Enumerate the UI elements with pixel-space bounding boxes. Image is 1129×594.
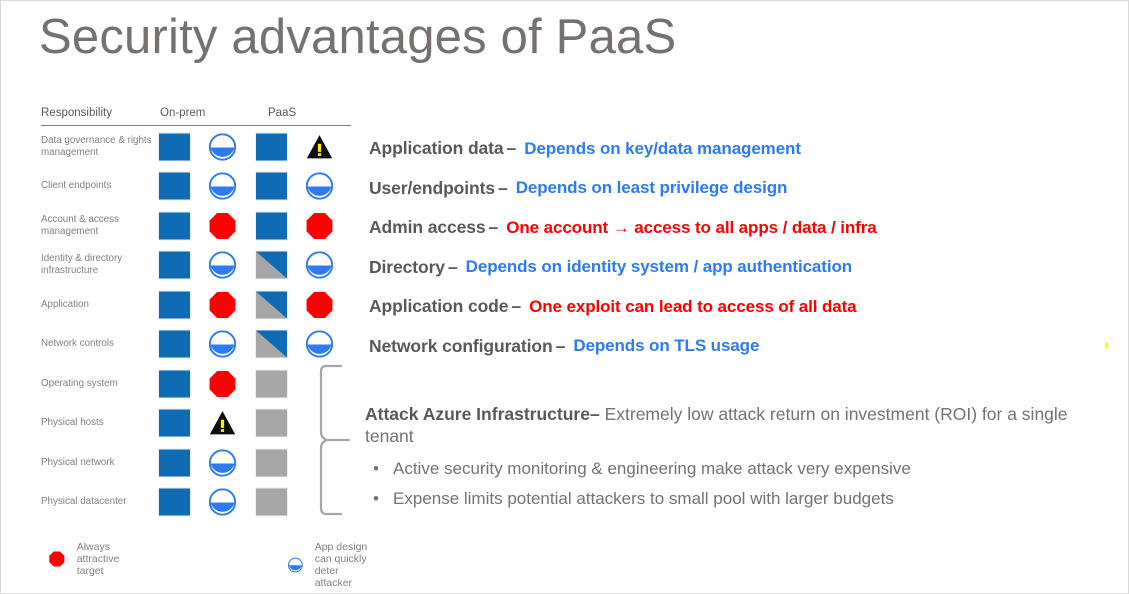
paas-fill-cell — [256, 212, 287, 239]
row-label: Data governance & rights management — [41, 135, 156, 159]
deter-circle-icon — [209, 173, 236, 200]
callout-description: Depends on TLS usage — [573, 336, 759, 356]
row-label: Account & access management — [41, 214, 156, 238]
diagonal-square-cell — [256, 331, 287, 358]
warning-triangle-icon — [306, 133, 333, 160]
onprem-risk-marker — [209, 449, 236, 476]
attack-term: Attack Azure Infrastructure — [365, 404, 590, 424]
deter-circle-icon — [209, 252, 236, 279]
callout-description: One account → access to all apps / data … — [506, 218, 876, 238]
deter-circle-icon — [306, 173, 333, 200]
callout-list: Application data–Depends on key/data man… — [369, 129, 1121, 366]
blue-square-cell — [159, 370, 190, 397]
blue-square-cell — [159, 489, 190, 516]
callout-row: Application data–Depends on key/data man… — [369, 129, 1121, 169]
callout-row: Admin access–One account → access to all… — [369, 208, 1121, 248]
deter-circle-icon — [209, 489, 236, 516]
matrix-row: Data governance & rights management — [41, 127, 351, 167]
onprem-fill-cell — [159, 489, 190, 516]
blue-square-cell — [159, 173, 190, 200]
callout-dash: – — [508, 296, 529, 317]
column-header-paas: PaaS — [268, 107, 296, 119]
callout-dash: – — [495, 178, 516, 199]
onprem-risk-marker — [209, 331, 236, 358]
onprem-risk-marker — [209, 370, 236, 397]
blue-square-cell — [256, 212, 287, 239]
callout-description: Depends on least privilege design — [516, 178, 788, 198]
diagonal-square-cell — [256, 252, 287, 279]
matrix-row: Physical datacenter — [41, 483, 351, 523]
callout-term: Application code — [369, 296, 508, 317]
attack-bullet: Active security monitoring & engineering… — [365, 454, 1105, 484]
matrix-row: Physical hosts — [41, 404, 351, 444]
blue-square-cell — [159, 410, 190, 437]
deter-circle-icon — [209, 331, 236, 358]
stop-octagon-icon — [306, 212, 333, 239]
blue-square-cell — [256, 173, 287, 200]
attack-dash: – — [590, 404, 600, 424]
deter-circle-icon — [288, 550, 303, 580]
callout-row: Application code–One exploit can lead to… — [369, 287, 1121, 327]
column-header-onprem: On-prem — [160, 107, 205, 119]
brace-icon — [319, 364, 367, 516]
callout-term: Admin access — [369, 217, 486, 238]
onprem-fill-cell — [159, 331, 190, 358]
onprem-fill-cell — [159, 370, 190, 397]
row-label: Physical datacenter — [41, 496, 156, 508]
blue-square-cell — [159, 252, 190, 279]
legend-label: Always attractive target — [77, 541, 134, 577]
blue-square-cell — [159, 133, 190, 160]
legend-item: App design can quickly deter attacker — [288, 541, 367, 589]
paas-fill-cell — [256, 173, 287, 200]
azure-infrastructure-brace — [319, 364, 367, 516]
row-label: Identity & directory infrastructure — [41, 253, 156, 277]
onprem-fill-cell — [159, 410, 190, 437]
paas-risk-marker — [306, 133, 333, 160]
grey-square-cell — [256, 370, 287, 397]
deter-circle-icon — [306, 252, 333, 279]
callout-row: Directory–Depends on identity system / a… — [369, 248, 1121, 288]
paas-fill-cell — [256, 252, 287, 279]
paas-risk-marker — [306, 173, 333, 200]
grey-square-cell — [256, 410, 287, 437]
onprem-risk-marker — [209, 133, 236, 160]
paas-risk-marker — [306, 252, 333, 279]
paas-fill-cell — [256, 133, 287, 160]
deter-circle-icon — [209, 449, 236, 476]
onprem-risk-marker — [209, 252, 236, 279]
matrix-row: Account & access management — [41, 206, 351, 246]
onprem-fill-cell — [159, 212, 190, 239]
onprem-fill-cell — [159, 133, 190, 160]
paas-risk-marker — [306, 291, 333, 318]
paas-risk-marker — [306, 212, 333, 239]
callout-term: Directory — [369, 257, 445, 278]
callout-term: User/endpoints — [369, 178, 495, 199]
blue-square-cell — [256, 133, 287, 160]
stop-octagon-icon — [209, 370, 236, 397]
row-label: Application — [41, 299, 156, 311]
callout-row: Network configuration–Depends on TLS usa… — [369, 327, 1121, 367]
attack-infrastructure-block: Attack Azure Infrastructure– Extremely l… — [365, 403, 1105, 514]
yellow-artifact-mark — [1105, 342, 1108, 349]
paas-fill-cell — [256, 331, 287, 358]
onprem-risk-marker — [209, 212, 236, 239]
paas-fill-cell — [256, 489, 287, 516]
attack-lead-text: Attack Azure Infrastructure– Extremely l… — [365, 403, 1105, 447]
deter-circle-icon — [209, 133, 236, 160]
row-label: Network controls — [41, 338, 156, 350]
stop-octagon-icon — [49, 544, 65, 574]
matrix-row: Network controls — [41, 325, 351, 365]
onprem-fill-cell — [159, 252, 190, 279]
stop-octagon-icon — [306, 291, 333, 318]
paas-risk-marker — [306, 331, 333, 358]
row-label: Operating system — [41, 378, 156, 390]
callout-description: Depends on identity system / app authent… — [466, 257, 852, 277]
onprem-fill-cell — [159, 291, 190, 318]
paas-fill-cell — [256, 291, 287, 318]
warning-triangle-icon — [209, 410, 236, 437]
matrix-header-row: Responsibility On-prem PaaS — [41, 107, 351, 127]
stop-octagon-icon — [209, 212, 236, 239]
attack-bullet: Expense limits potential attackers to sm… — [365, 484, 1105, 514]
callout-dash: – — [553, 336, 574, 357]
row-label: Physical network — [41, 457, 156, 469]
matrix-row: Identity & directory infrastructure — [41, 246, 351, 286]
slide-canvas: Security advantages of PaaS Responsibili… — [0, 0, 1129, 594]
paas-fill-cell — [256, 410, 287, 437]
blue-square-cell — [159, 212, 190, 239]
callout-dash: – — [486, 217, 507, 238]
onprem-fill-cell — [159, 449, 190, 476]
row-label: Client endpoints — [41, 180, 156, 192]
header-divider — [41, 125, 351, 126]
paas-fill-cell — [256, 449, 287, 476]
callout-row: User/endpoints–Depends on least privileg… — [369, 169, 1121, 209]
stop-octagon-icon — [209, 291, 236, 318]
blue-square-cell — [159, 291, 190, 318]
page-title: Security advantages of PaaS — [39, 9, 676, 65]
matrix-row: Client endpoints — [41, 167, 351, 207]
onprem-risk-marker — [209, 173, 236, 200]
matrix-row: Application — [41, 285, 351, 325]
legend-label: App design can quickly deter attacker — [315, 541, 368, 589]
onprem-risk-marker — [209, 489, 236, 516]
responsibility-matrix: Responsibility On-prem PaaS Data governa… — [41, 107, 351, 522]
callout-dash: – — [445, 257, 466, 278]
legend-item: Always attractive target — [49, 541, 134, 577]
blue-square-cell — [159, 331, 190, 358]
blue-square-cell — [159, 449, 190, 476]
onprem-fill-cell — [159, 173, 190, 200]
callout-description: One exploit can lead to access of all da… — [529, 297, 856, 317]
callout-term: Network configuration — [369, 336, 553, 357]
row-label: Physical hosts — [41, 417, 156, 429]
callout-description: Depends on key/data management — [524, 139, 801, 159]
diagonal-square-cell — [256, 291, 287, 318]
matrix-row: Operating system — [41, 364, 351, 404]
onprem-risk-marker — [209, 410, 236, 437]
callout-term: Application data — [369, 138, 504, 159]
attack-bullet-list: Active security monitoring & engineering… — [365, 454, 1105, 514]
paas-fill-cell — [256, 370, 287, 397]
matrix-row: Physical network — [41, 443, 351, 483]
onprem-risk-marker — [209, 291, 236, 318]
grey-square-cell — [256, 489, 287, 516]
column-header-responsibility: Responsibility — [41, 107, 112, 119]
callout-dash: – — [504, 138, 525, 159]
grey-square-cell — [256, 449, 287, 476]
deter-circle-icon — [306, 331, 333, 358]
